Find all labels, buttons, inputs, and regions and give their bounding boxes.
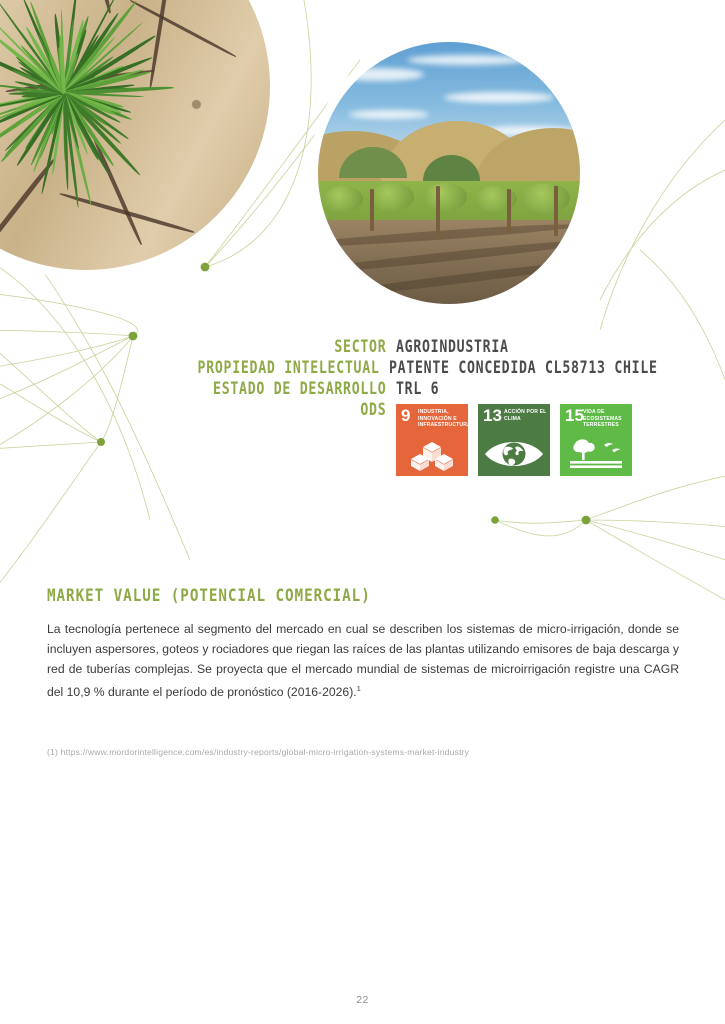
market-value-body-text: La tecnología pertenece al segmento del … — [47, 622, 679, 699]
sdg-title-9: INDUSTRIA, INNOVACIÓN E INFRAESTRUCTURA — [418, 409, 466, 429]
spec-value-sector: AGROINDUSTRIA — [396, 336, 509, 357]
network-node — [582, 516, 591, 525]
footnote-marker: 1 — [357, 684, 361, 693]
cracked-dry-soil-photo — [0, 0, 270, 270]
sdg-badge-13: 13 ACCIÓN POR EL CLIMA — [478, 404, 550, 476]
vineyard-photo — [318, 42, 580, 304]
spec-label-sdg: ODS — [79, 399, 396, 420]
market-value-title: MARKET VALUE (POTENCIAL COMERCIAL) — [47, 585, 578, 607]
sdg-badge-15: 15 VIDA DE ECOSISTEMAS TERRESTRES — [560, 404, 632, 476]
sdg-badge-list: 9 INDUSTRIA, INNOVACIÓN E INFRAESTRUCTUR… — [396, 404, 725, 476]
spec-value-intellectual-property: PATENTE CONCEDIDA CL58713 CHILE — [389, 357, 658, 378]
spec-row-sector: SECTOR AGROINDUSTRIA — [0, 336, 725, 357]
sdg-badge-9: 9 INDUSTRIA, INNOVACIÓN E INFRAESTRUCTUR… — [396, 404, 468, 476]
sdg-number-15: 15 — [565, 408, 584, 423]
spec-value-development-stage: TRL 6 — [396, 378, 439, 399]
spec-label-sector: SECTOR — [79, 336, 396, 357]
market-value-body: La tecnología pertenece al segmento del … — [47, 620, 679, 703]
spec-row-sdg: ODS 9 INDUSTRIA, INNOVACIÓN E INFRAESTRU… — [0, 399, 725, 476]
spec-label-development-stage: ESTADO DE DESARROLLO — [79, 378, 396, 399]
sdg-title-13: ACCIÓN POR EL CLIMA — [504, 409, 548, 422]
cubes-icon — [396, 434, 468, 472]
spec-row-intellectual-property: PROPIEDAD INTELECTUAL PATENTE CONCEDIDA … — [0, 357, 725, 378]
spec-row-development-stage: ESTADO DE DESARROLLO TRL 6 — [0, 378, 725, 399]
sdg-number-13: 13 — [483, 408, 502, 423]
eye-globe-icon — [478, 434, 550, 472]
page-number: 22 — [0, 994, 725, 1006]
market-value-section: MARKET VALUE (POTENCIAL COMERCIAL) La te… — [47, 585, 679, 703]
footnote-reference[interactable]: (1) https://www.mordorintelligence.com/e… — [47, 746, 469, 758]
sdg-title-15: VIDA DE ECOSISTEMAS TERRESTRES — [583, 409, 631, 429]
sdg-number-9: 9 — [401, 408, 410, 423]
technology-spec-block: SECTOR AGROINDUSTRIA PROPIEDAD INTELECTU… — [0, 336, 725, 476]
spec-label-intellectual-property: PROPIEDAD INTELECTUAL — [78, 357, 389, 378]
tree-birds-icon — [560, 434, 632, 472]
network-node — [491, 516, 499, 524]
